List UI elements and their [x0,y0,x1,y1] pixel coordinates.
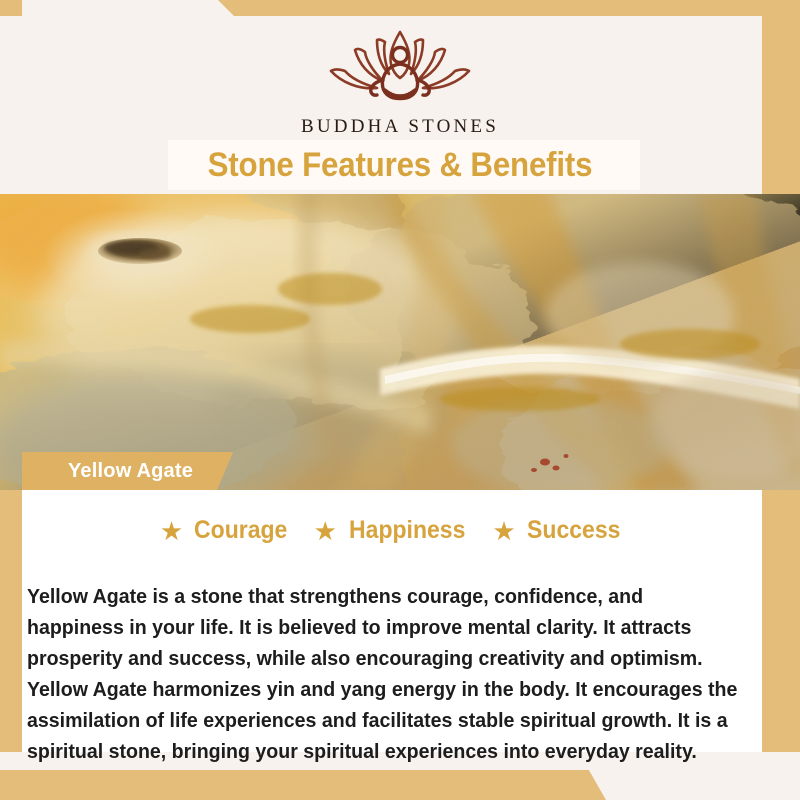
stone-name-badge: Yellow Agate [22,452,233,490]
benefit-item: ★ Success [492,516,624,545]
yellow-agate-texture-graphic [0,194,800,490]
star-icon: ★ [314,518,337,544]
benefit-item: ★ Courage [160,516,292,545]
product-info-card: BUDDHA STONES Stone Features & Benefits [0,0,800,800]
benefit-item: ★ Happiness [314,516,471,545]
star-icon: ★ [492,518,515,544]
stone-description: Yellow Agate is a stone that strengthens… [27,581,738,767]
page-title: Stone Features & Benefits [32,140,768,190]
benefit-label: Courage [194,516,287,545]
stone-image [0,194,800,490]
benefits-row: ★ Courage ★ Happiness ★ Success [22,516,762,545]
star-icon: ★ [160,518,183,544]
benefit-label: Happiness [349,516,465,545]
brand-name: BUDDHA STONES [301,116,499,138]
lotus-meditation-figure-icon [315,24,485,110]
benefit-label: Success [527,516,620,545]
brand-logo: BUDDHA STONES [0,24,800,138]
